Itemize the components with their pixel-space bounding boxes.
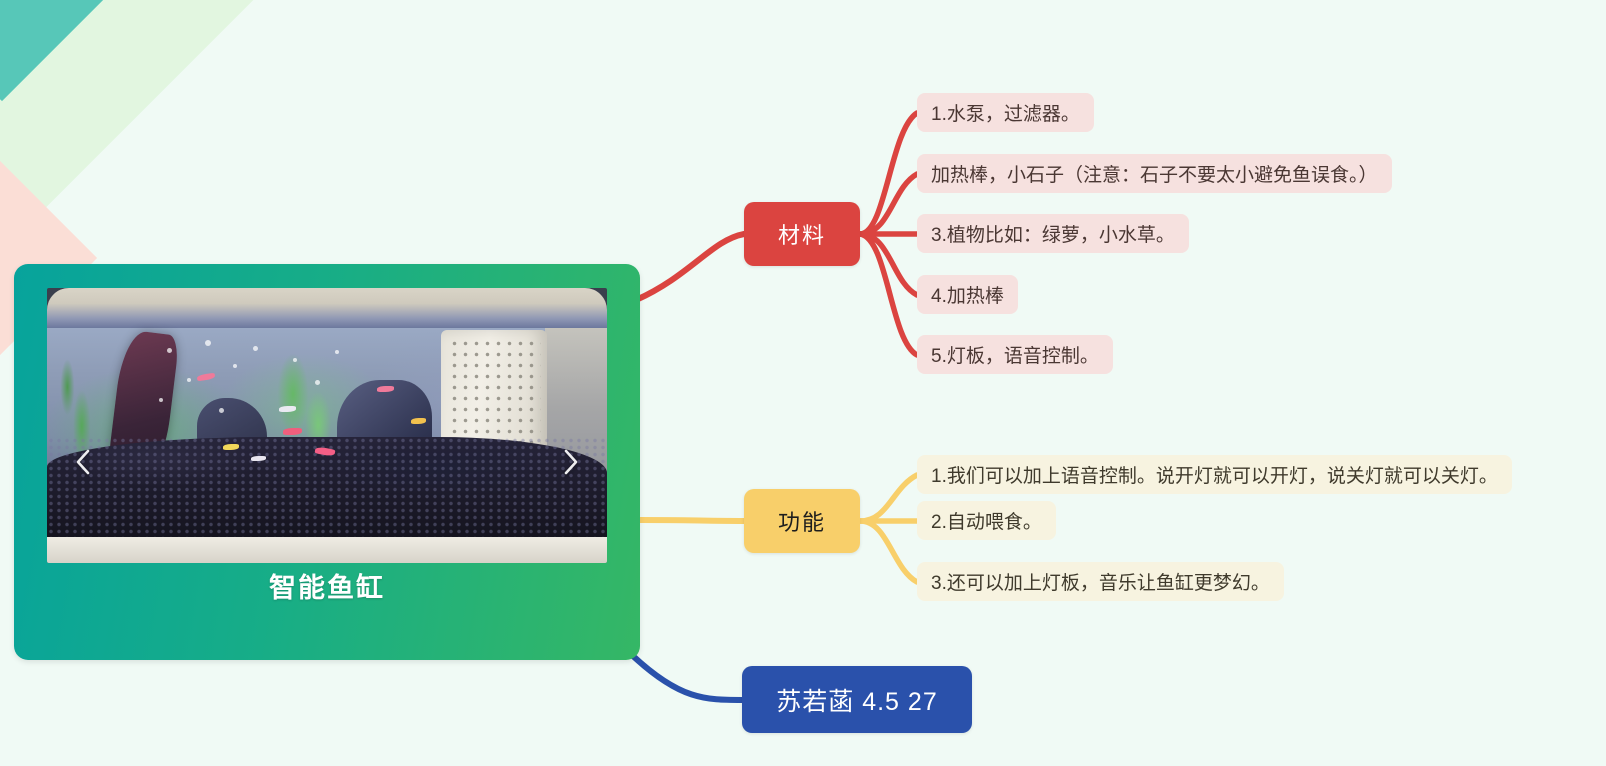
carousel-prev-button[interactable] (66, 445, 100, 479)
product-card[interactable]: 智能鱼缸 (14, 264, 640, 660)
materials-item-1[interactable]: 1.水泵，过滤器。 (917, 93, 1094, 132)
materials-item-4[interactable]: 4.加热棒 (917, 275, 1018, 314)
connector-card-to-author (632, 655, 742, 700)
functions-item-3[interactable]: 3.还可以加上灯板，音乐让鱼缸更梦幻。 (917, 562, 1284, 601)
materials-item-5[interactable]: 5.灯板，语音控制。 (917, 335, 1113, 374)
connector-card-to-functions (640, 520, 744, 521)
carousel-next-button[interactable] (554, 445, 588, 479)
product-photo (47, 288, 607, 563)
chevron-left-icon (73, 447, 93, 477)
functions-item-1[interactable]: 1.我们可以加上语音控制。说开灯就可以开灯，说关灯就可以关灯。 (917, 455, 1512, 494)
functions-item-2[interactable]: 2.自动喂食。 (917, 501, 1056, 540)
connector-card-to-materials (636, 234, 744, 300)
connector-functions-3 (860, 521, 917, 582)
branch-node-functions[interactable]: 功能 (744, 489, 860, 553)
chevron-right-icon (561, 447, 581, 477)
materials-item-2[interactable]: 加热棒，小石子（注意：石子不要太小避免鱼误食。） (917, 154, 1392, 193)
branch-node-materials[interactable]: 材料 (744, 202, 860, 266)
mindmap-canvas: 智能鱼缸 材料 1.水泵，过滤器。 加热棒，小石子（注意：石子不要太小避免鱼误食… (0, 0, 1606, 766)
author-node[interactable]: 苏若菡 4.5 27 (742, 666, 972, 733)
connector-functions-1 (860, 475, 917, 521)
materials-item-3[interactable]: 3.植物比如：绿萝，小水草。 (917, 214, 1189, 253)
card-title: 智能鱼缸 (14, 566, 640, 605)
